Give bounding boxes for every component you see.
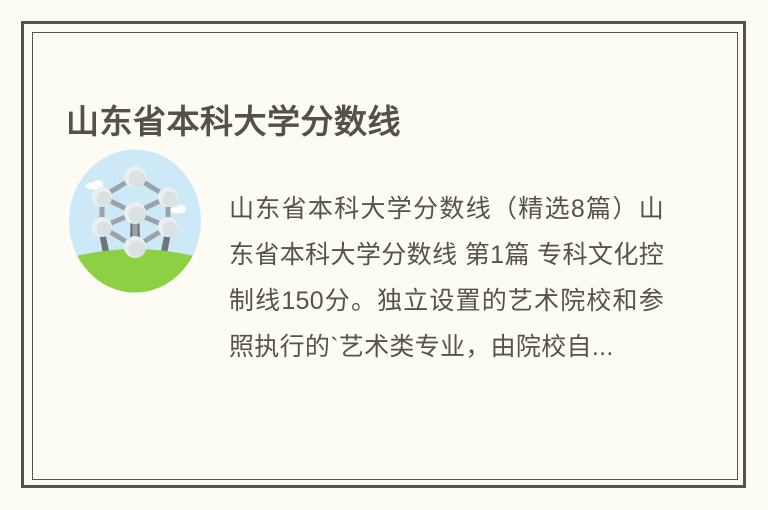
article-thumbnail[interactable] <box>68 149 202 293</box>
article-card[interactable]: 山东省本科大学分数线 <box>33 33 737 479</box>
article-excerpt: 山东省本科大学分数线（精选8篇）山东省本科大学分数线 第1篇 专科文化控制线15… <box>229 186 664 370</box>
card-inner-border: 山东省本科大学分数线 <box>32 32 738 480</box>
page-title: 山东省本科大学分数线 <box>66 102 401 142</box>
atomium-landmark-illustration <box>68 149 202 293</box>
article-preview-page: 山东省本科大学分数线 <box>0 0 768 510</box>
card-outer-border: 山东省本科大学分数线 <box>21 21 746 488</box>
